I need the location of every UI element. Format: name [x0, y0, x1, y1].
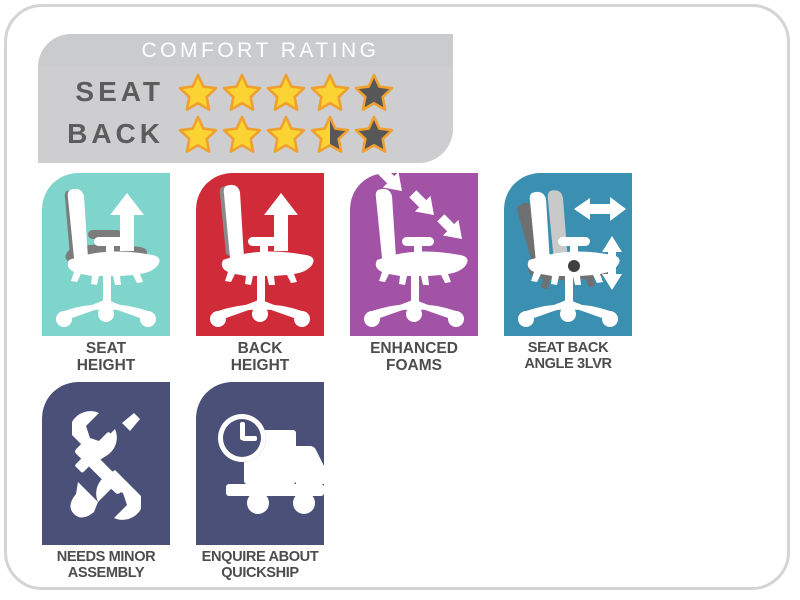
feature-caption-enquire-about-quickship: ENQUIRE ABOUT QUICKSHIP [202, 550, 319, 582]
feature-tile-needs-minor-assembly[interactable]: NEEDS MINOR ASSEMBLY [42, 382, 170, 582]
info-card: COMFORT RATING SEAT BACK [4, 4, 790, 590]
star-half-icon [310, 114, 350, 154]
feature-row-2: NEEDS MINOR ASSEMBLY [42, 382, 632, 582]
rating-stars-back [178, 114, 394, 154]
feature-caption-back-height: BACK HEIGHT [231, 341, 290, 374]
delivery-truck-clock-icon [196, 382, 324, 545]
feature-tile-enquire-about-quickship[interactable]: ENQUIRE ABOUT QUICKSHIP [196, 382, 324, 582]
chair-back-height-icon [196, 173, 324, 336]
feature-row-1: SEAT HEIGHT [42, 173, 632, 374]
feature-caption-seat-back-angle: SEAT BACK ANGLE 3LVR [524, 341, 611, 373]
feature-tile-seat-back-angle[interactable]: SEAT BACK ANGLE 3LVR [504, 173, 632, 374]
chair-seat-back-angle-icon [504, 173, 632, 336]
star-full-icon [222, 114, 262, 154]
chair-enhanced-foams-icon [350, 173, 478, 336]
rating-label-back: BACK [38, 118, 178, 150]
rating-row-back: BACK [38, 113, 453, 155]
star-full-icon [178, 114, 218, 154]
star-full-icon [178, 72, 218, 112]
comfort-rating-body: SEAT BACK [38, 67, 453, 163]
feature-tile-enhanced-foams[interactable]: ENHANCED FOAMS [350, 173, 478, 374]
star-full-icon [266, 72, 306, 112]
rating-stars-seat [178, 72, 394, 112]
comfort-rating-header: COMFORT RATING [38, 34, 453, 67]
wrench-screwdriver-icon [42, 382, 170, 545]
comfort-rating-panel: COMFORT RATING SEAT BACK [38, 34, 453, 163]
feature-tile-back-height[interactable]: BACK HEIGHT [196, 173, 324, 374]
rating-label-seat: SEAT [38, 76, 178, 108]
feature-caption-needs-minor-assembly: NEEDS MINOR ASSEMBLY [57, 550, 156, 582]
star-full-icon [222, 72, 262, 112]
feature-caption-seat-height: SEAT HEIGHT [77, 341, 136, 374]
feature-caption-enhanced-foams: ENHANCED FOAMS [370, 341, 458, 374]
feature-tile-seat-height[interactable]: SEAT HEIGHT [42, 173, 170, 374]
star-empty-icon [354, 114, 394, 154]
star-empty-icon [354, 72, 394, 112]
rating-row-seat: SEAT [38, 71, 453, 113]
star-full-icon [266, 114, 306, 154]
star-full-icon [310, 72, 350, 112]
page-title: COMFORT RATING [142, 39, 380, 63]
chair-seat-height-icon [42, 173, 170, 336]
feature-tiles: SEAT HEIGHT [42, 173, 632, 582]
